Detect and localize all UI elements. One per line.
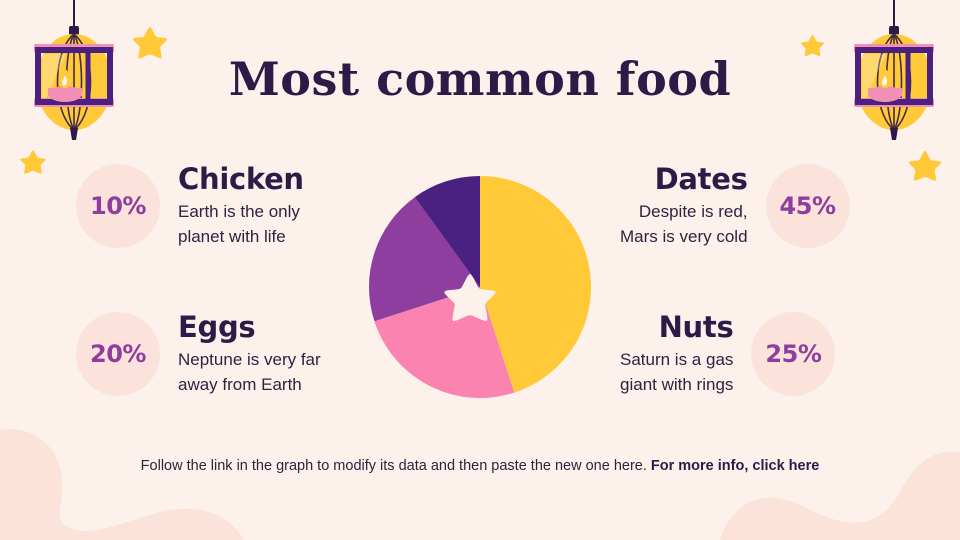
star-mid-right-icon: [906, 148, 944, 186]
percent-badge-chicken: 10%: [76, 164, 160, 248]
pie-slices: [369, 176, 591, 398]
stat-body-dates: Despite is red, Mars is very cold: [620, 200, 748, 248]
stat-heading-dates: Dates: [620, 164, 748, 194]
footer-caption: Follow the link in the graph to modify i…: [0, 458, 960, 474]
star-mid-left-icon: [18, 148, 48, 178]
caption-link[interactable]: For more info, click here: [651, 458, 819, 474]
page-title: Most common food: [0, 52, 960, 106]
stat-text-nuts: Nuts Saturn is a gas giant with rings: [616, 312, 737, 397]
percent-value-dates: 45%: [780, 192, 836, 220]
stat-block-chicken: 10% Chicken Earth is the only planet wit…: [76, 164, 308, 249]
blob-bottom-left: [0, 429, 244, 540]
percent-value-nuts: 25%: [765, 340, 821, 368]
caption-text: Follow the link in the graph to modify i…: [141, 458, 651, 474]
stat-block-nuts: Nuts Saturn is a gas giant with rings 25…: [616, 312, 835, 397]
stat-heading-nuts: Nuts: [620, 312, 733, 342]
stat-heading-chicken: Chicken: [178, 164, 304, 194]
percent-badge-dates: 45%: [766, 164, 850, 248]
stat-body-nuts: Saturn is a gas giant with rings: [620, 348, 733, 396]
percent-value-chicken: 10%: [90, 192, 146, 220]
slide-canvas: Most common food 10% Chicken Earth is th…: [0, 0, 960, 540]
stat-block-eggs: 20% Eggs Neptune is very far away from E…: [76, 312, 325, 397]
stat-text-dates: Dates Despite is red, Mars is very cold: [616, 164, 752, 249]
pie-chart-svg[interactable]: [369, 176, 591, 398]
stat-text-chicken: Chicken Earth is the only planet with li…: [174, 164, 308, 249]
percent-value-eggs: 20%: [90, 340, 146, 368]
stat-heading-eggs: Eggs: [178, 312, 321, 342]
stat-body-eggs: Neptune is very far away from Earth: [178, 348, 321, 396]
stat-text-eggs: Eggs Neptune is very far away from Earth: [174, 312, 325, 397]
stat-body-chicken: Earth is the only planet with life: [178, 200, 304, 248]
stat-block-dates: Dates Despite is red, Mars is very cold …: [616, 164, 850, 249]
percent-badge-eggs: 20%: [76, 312, 160, 396]
percent-badge-nuts: 25%: [751, 312, 835, 396]
pie-chart[interactable]: [369, 176, 591, 398]
